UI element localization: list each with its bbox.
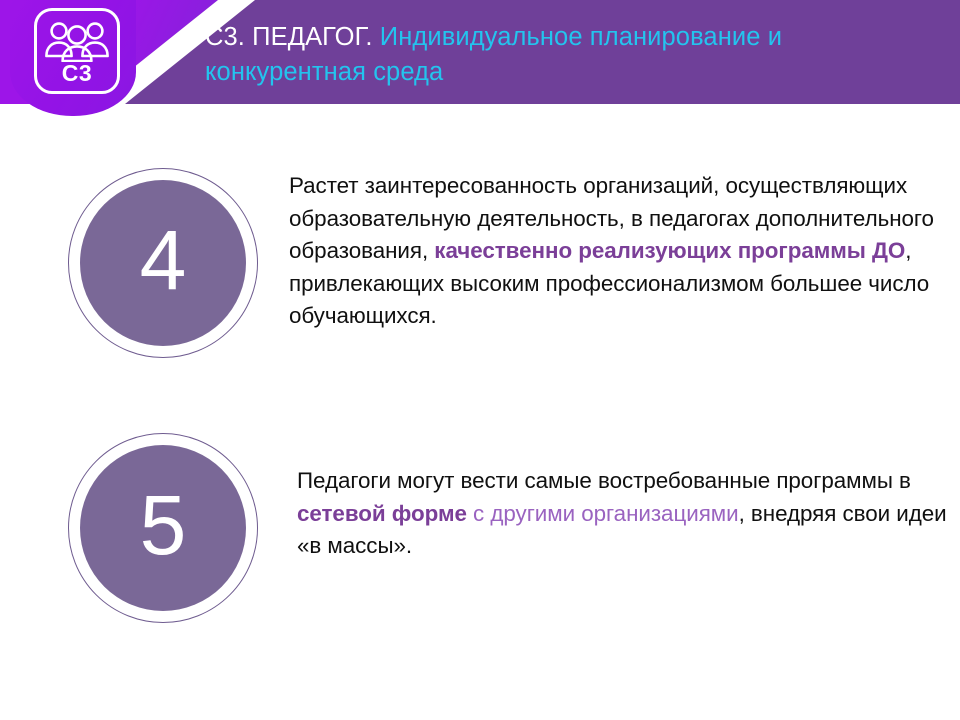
slide: C3 С3. ПЕДАГОГ. Индивидуальное планирова…	[0, 0, 960, 720]
number-badge-label: 5	[140, 483, 187, 573]
item-text-4: Растет заинтересованность организаций, о…	[289, 170, 951, 333]
item-text-5: Педагоги могут вести самые востребованны…	[297, 465, 947, 563]
text-segment: Педагоги могут вести самые востребованны…	[297, 468, 911, 493]
text-segment: качественно реализующих программы ДО	[434, 238, 905, 263]
number-badge-5: 5	[68, 433, 258, 623]
page-title: С3. ПЕДАГОГ. Индивидуальное планирование…	[205, 20, 945, 90]
text-segment: с другими организациями	[467, 501, 739, 526]
number-badge-4: 4	[68, 168, 258, 358]
page-title-prefix: С3. ПЕДАГОГ.	[205, 23, 380, 51]
logo-badge: C3	[34, 8, 120, 94]
number-badge-disc: 5	[80, 445, 246, 611]
logo-code-label: C3	[37, 62, 117, 85]
text-segment: сетевой форме	[297, 501, 467, 526]
number-badge-label: 4	[140, 218, 187, 308]
number-badge-disc: 4	[80, 180, 246, 346]
logo-plate: C3	[10, 0, 136, 116]
